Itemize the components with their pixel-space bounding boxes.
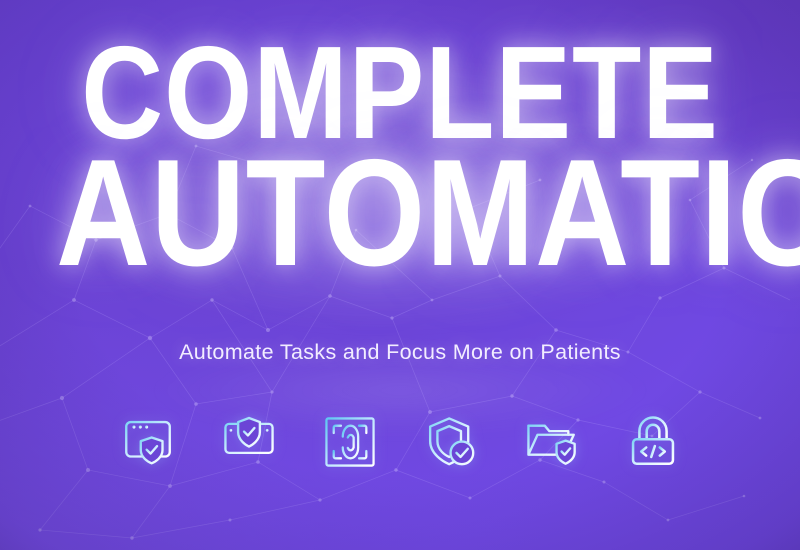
lock-code-icon xyxy=(624,413,682,471)
subtitle-text: Automate Tasks and Focus More on Patient… xyxy=(179,340,621,365)
headline-line-2: AUTOMATION xyxy=(56,145,744,282)
headline-block: COMPLETE AUTOMATION xyxy=(0,34,800,282)
folder-shield-icon xyxy=(523,413,581,471)
promo-banner: COMPLETE AUTOMATION Automate Tasks and F… xyxy=(0,0,800,550)
browser-shield-icon xyxy=(119,413,177,471)
shield-check-icon xyxy=(422,413,480,471)
fingerprint-scan-icon xyxy=(321,413,379,471)
monitor-shield-icon xyxy=(220,413,278,471)
feature-icon-row xyxy=(119,413,682,471)
